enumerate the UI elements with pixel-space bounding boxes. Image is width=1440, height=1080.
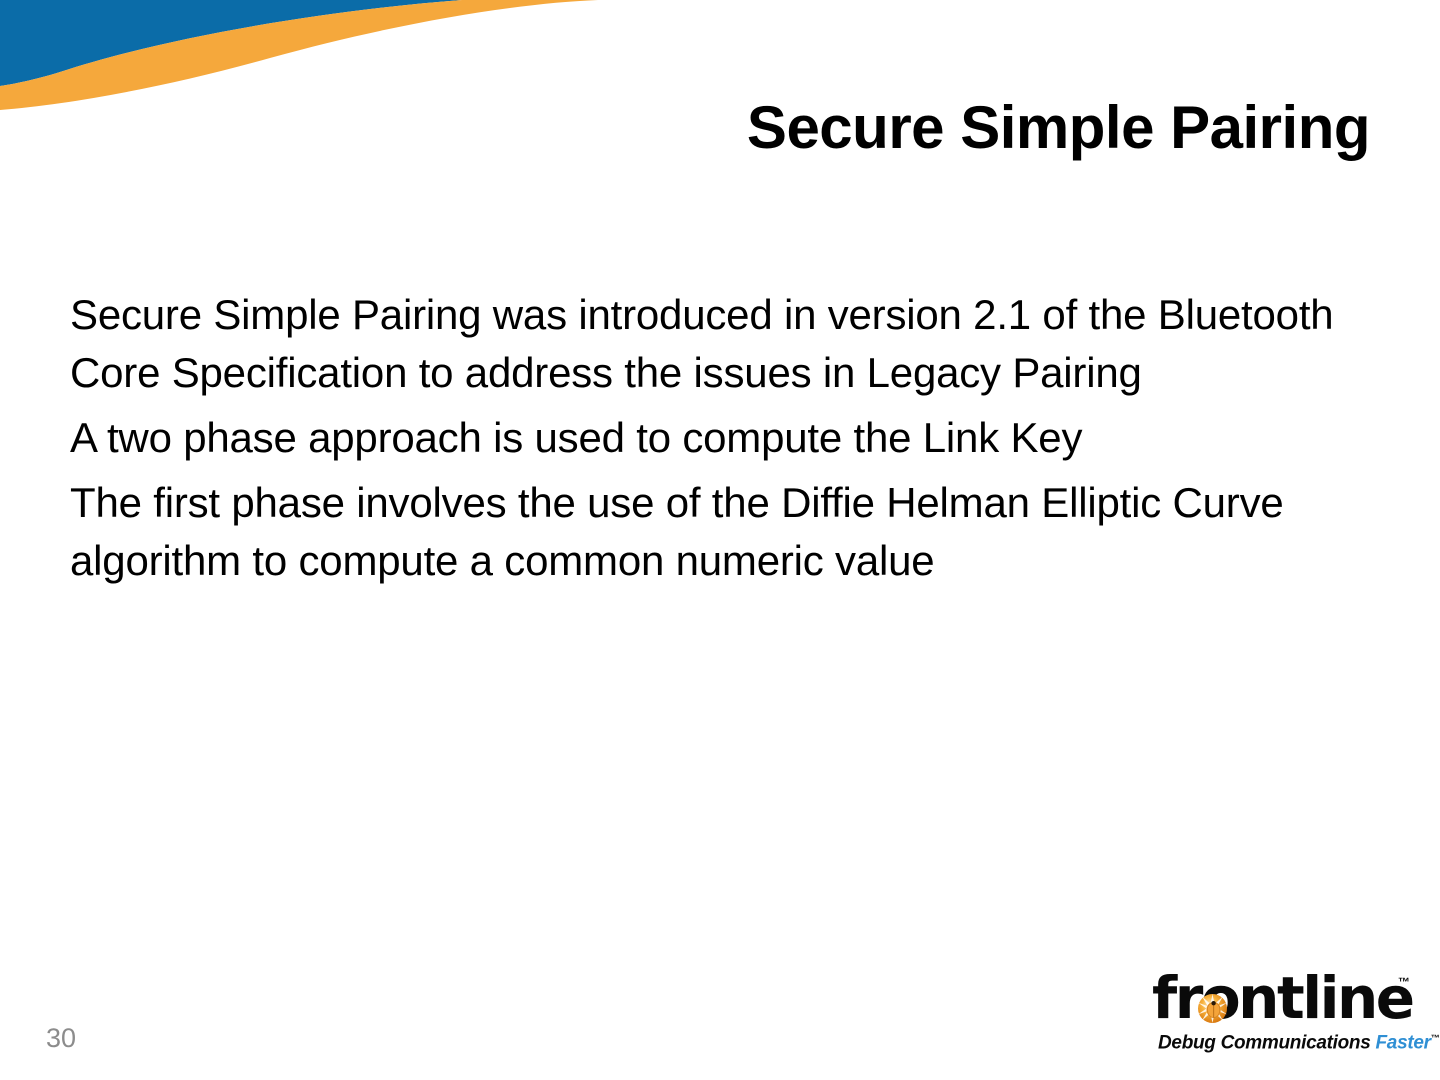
body-paragraph-2: A two phase approach is used to compute …	[70, 409, 1400, 467]
logo-tagline-accent: Faster	[1376, 1032, 1431, 1053]
slide-body: Secure Simple Pairing was introduced in …	[70, 286, 1400, 597]
swoosh-blue-shape	[0, 0, 462, 86]
presentation-slide: Secure Simple Pairing Secure Simple Pair…	[0, 0, 1440, 1080]
frontline-logo: frontline	[1150, 970, 1412, 1056]
logo-tagline-trademark: ™	[1431, 1033, 1440, 1043]
body-paragraph-3: The first phase involves the use of the …	[70, 474, 1400, 590]
logo-trademark-symbol: ™	[1398, 976, 1410, 988]
logo-wordmark-text: frontline	[1152, 968, 1413, 1028]
slide-title: Secure Simple Pairing	[80, 96, 1370, 159]
logo-wordmark: frontline	[1150, 970, 1412, 1030]
body-paragraph-1: Secure Simple Pairing was introduced in …	[70, 286, 1400, 402]
logo-bug-icon	[1197, 993, 1228, 1024]
slide-page-number: 30	[46, 1025, 76, 1052]
logo-tagline-main: Debug Communications	[1158, 1032, 1376, 1053]
swoosh-orange-shape	[0, 0, 598, 110]
logo-tagline: Debug Communications Faster™	[1158, 1027, 1412, 1054]
